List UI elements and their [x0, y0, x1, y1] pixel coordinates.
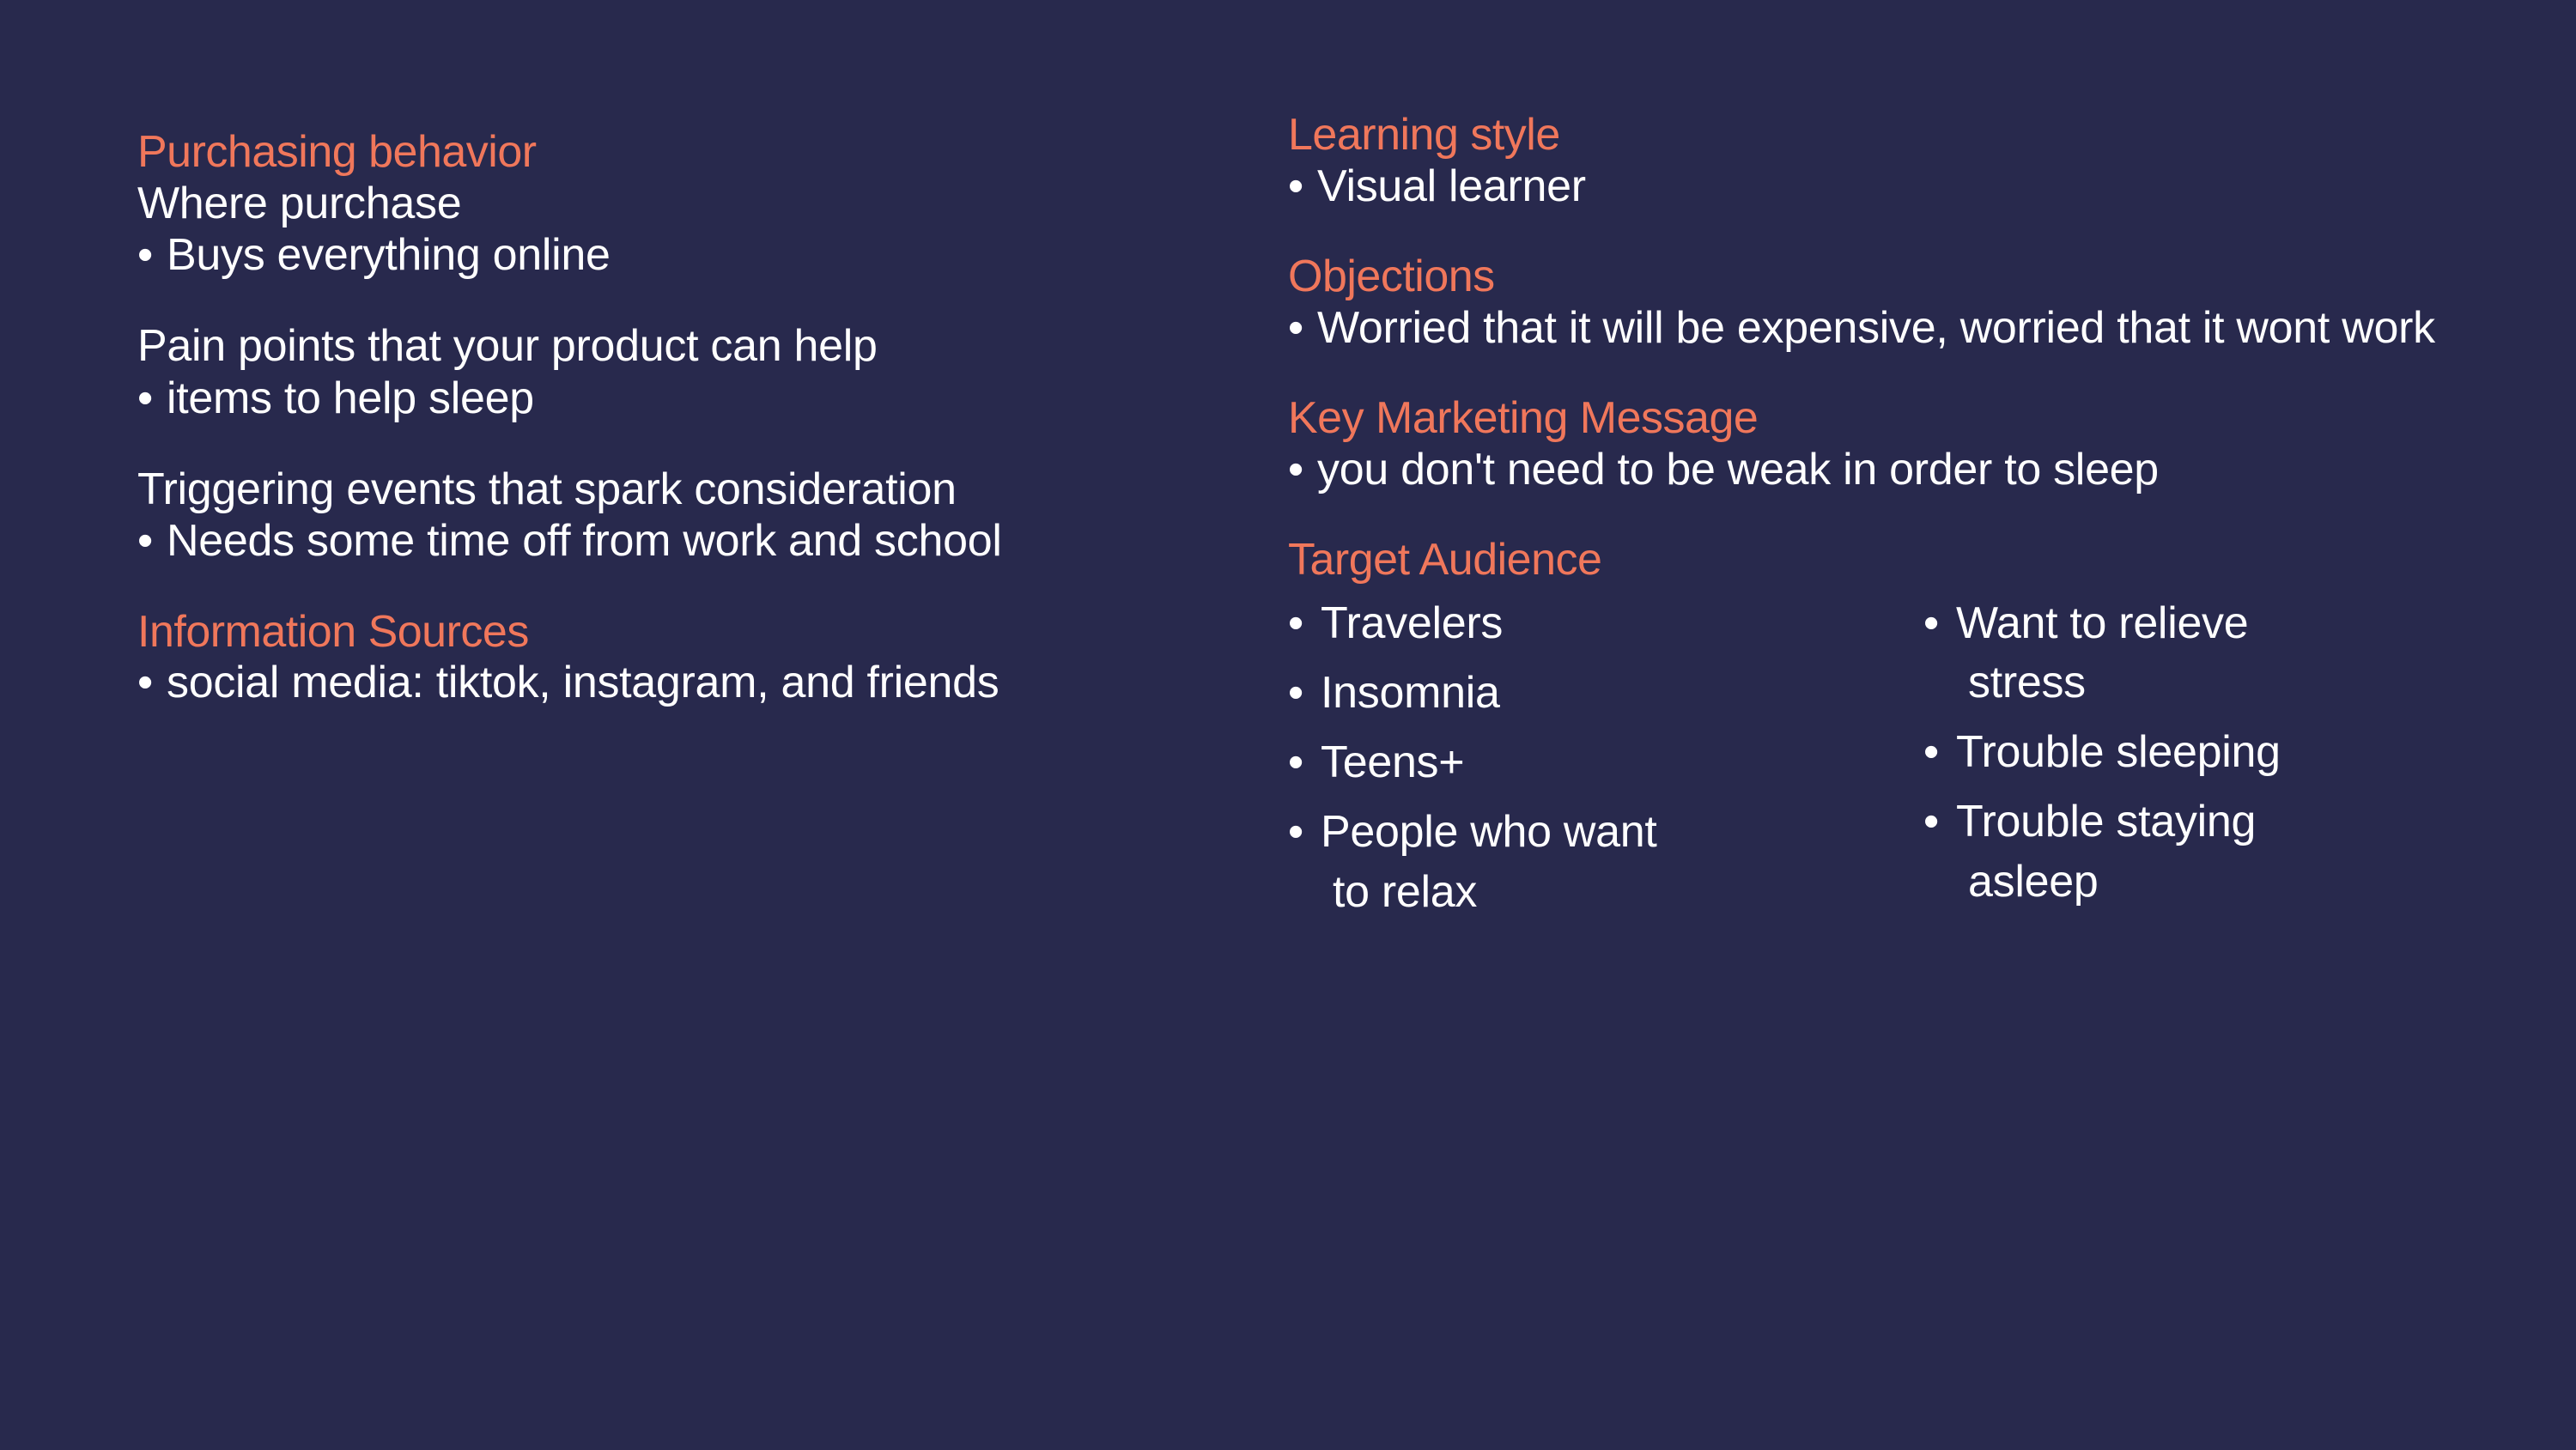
section-heading-key-marketing-message: Key Marketing Message [1288, 393, 2473, 444]
list-item: • Insomnia [1288, 664, 1923, 723]
section-heading-learning-style: Learning style [1288, 110, 2473, 161]
section-target-audience: Target Audience • Travelers • Insomnia [1288, 535, 2473, 922]
bullet-dot-icon: • [137, 229, 153, 281]
list-item-label: Buys everything online [167, 230, 611, 280]
list-item-label: Want to relieve [1956, 598, 2248, 648]
section-subhead-triggering-events: Triggering events that spark considerati… [137, 464, 1185, 515]
list-item-label: Worried that it will be expensive, worri… [1317, 303, 2435, 353]
bullet-list-triggering-events: • Needs some time off from work and scho… [137, 515, 1185, 567]
list-item-label-continued: stress [1956, 653, 2473, 713]
list-item: • Visual learner [1288, 161, 2473, 212]
bullet-list-information-sources: • social media: tiktok, instagram, and f… [137, 657, 1185, 708]
section-information-sources: Information Sources • social media: tikt… [137, 607, 1185, 709]
bullet-dot-icon: • [1288, 302, 1303, 354]
bullet-dot-icon: • [1288, 594, 1303, 653]
list-item-label: Travelers [1321, 598, 1503, 648]
list-item-label: social media: tiktok, instagram, and fri… [167, 658, 999, 707]
section-learning-style: Learning style • Visual learner [1288, 110, 2473, 212]
target-audience-columns: • Travelers • Insomnia • Teens+ • [1288, 594, 2473, 922]
section-heading-objections: Objections [1288, 252, 2473, 302]
list-item: • items to help sleep [137, 373, 1185, 424]
list-item: • Trouble staying asleep [1923, 792, 2473, 911]
bullet-dot-icon: • [1288, 161, 1303, 212]
list-item-label: Visual learner [1317, 161, 1586, 211]
section-heading-purchasing-behavior: Purchasing behavior [137, 127, 1185, 178]
section-heading-target-audience: Target Audience [1288, 535, 2473, 585]
bullet-list-target-audience-two: • Want to relieve stress • Trouble sleep… [1923, 594, 2473, 912]
list-item-label: Trouble sleeping [1956, 727, 2281, 777]
list-item: • Buys everything online [137, 229, 1185, 281]
bullet-list-target-audience-one: • Travelers • Insomnia • Teens+ • [1288, 594, 1923, 922]
list-item-label-continued: to relax [1321, 863, 1923, 922]
section-subhead-where-purchase: Where purchase [137, 178, 1185, 229]
target-audience-column-one: • Travelers • Insomnia • Teens+ • [1288, 594, 1923, 922]
section-key-marketing-message: Key Marketing Message • you don't need t… [1288, 393, 2473, 495]
section-triggering-events: Triggering events that spark considerati… [137, 464, 1185, 567]
list-item-label: Needs some time off from work and school [167, 516, 1002, 566]
section-heading-information-sources: Information Sources [137, 607, 1185, 658]
list-item: • Travelers [1288, 594, 1923, 653]
bullet-list-key-marketing-message: • you don't need to be weak in order to … [1288, 444, 2473, 495]
list-item: • social media: tiktok, instagram, and f… [137, 657, 1185, 708]
list-item-label: Trouble staying [1956, 797, 2256, 846]
list-item: • Trouble sleeping [1923, 723, 2473, 782]
list-item: • Needs some time off from work and scho… [137, 515, 1185, 567]
section-pain-points: Pain points that your product can help •… [137, 320, 1185, 424]
bullet-dot-icon: • [1923, 594, 1939, 653]
slide-canvas: Purchasing behavior Where purchase • Buy… [0, 0, 2576, 1450]
bullet-dot-icon: • [137, 657, 153, 708]
right-column: Learning style • Visual learner Objectio… [1288, 110, 2473, 922]
bullet-dot-icon: • [1288, 664, 1303, 723]
list-item: • Want to relieve stress [1923, 594, 2473, 713]
list-item-label: Teens+ [1321, 737, 1464, 787]
bullet-dot-icon: • [1923, 792, 1939, 852]
left-column: Purchasing behavior Where purchase • Buy… [137, 127, 1185, 709]
bullet-list-pain-points: • items to help sleep [137, 373, 1185, 424]
list-item-label-continued: asleep [1956, 852, 2473, 912]
bullet-list-learning-style: • Visual learner [1288, 161, 2473, 212]
list-item-label: you don't need to be weak in order to sl… [1317, 445, 2159, 494]
list-item-label: Insomnia [1321, 668, 1500, 718]
target-audience-column-two: • Want to relieve stress • Trouble sleep… [1923, 594, 2473, 922]
section-subhead-pain-points: Pain points that your product can help [137, 320, 1185, 372]
bullet-dot-icon: • [137, 515, 153, 567]
bullet-dot-icon: • [137, 373, 153, 424]
bullet-dot-icon: • [1288, 803, 1303, 862]
bullet-dot-icon: • [1288, 444, 1303, 495]
list-item: • you don't need to be weak in order to … [1288, 444, 2473, 495]
list-item: • People who want to relax [1288, 803, 1923, 921]
bullet-dot-icon: • [1288, 733, 1303, 792]
bullet-list-purchasing-behavior: • Buys everything online [137, 229, 1185, 281]
list-item: • Teens+ [1288, 733, 1923, 792]
list-item-label: People who want [1321, 807, 1657, 857]
section-objections: Objections • Worried that it will be exp… [1288, 252, 2473, 354]
list-item: • Worried that it will be expensive, wor… [1288, 302, 2473, 354]
list-item-label: items to help sleep [167, 373, 534, 423]
bullet-list-objections: • Worried that it will be expensive, wor… [1288, 302, 2473, 354]
bullet-dot-icon: • [1923, 723, 1939, 782]
section-purchasing-behavior: Purchasing behavior Where purchase • Buy… [137, 127, 1185, 281]
